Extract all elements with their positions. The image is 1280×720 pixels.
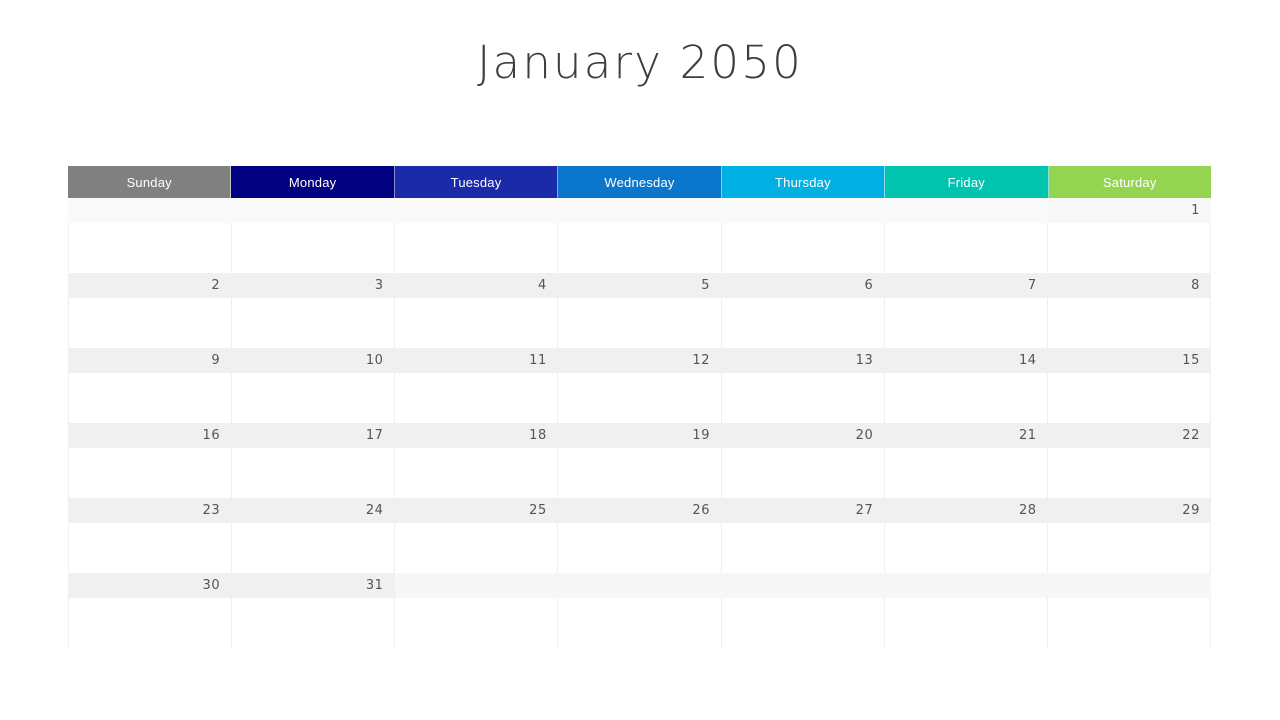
weekday-header-monday-label: Monday [289, 175, 336, 190]
calendar-week-row: 1 [68, 198, 1211, 273]
calendar-day-cell[interactable] [1048, 373, 1211, 423]
calendar-day-number[interactable]: 7 [884, 273, 1047, 298]
calendar-day-number[interactable]: 12 [558, 348, 721, 373]
calendar-day-number[interactable]: 23 [68, 498, 231, 523]
calendar-day-number-empty [395, 198, 558, 223]
calendar-grid: Sunday Monday Tuesday Wednesday Thursday… [68, 166, 1211, 648]
calendar-week-row: 23242526272829 [68, 498, 1211, 573]
calendar-day-number-empty [68, 198, 231, 223]
calendar-weekday-header-row: Sunday Monday Tuesday Wednesday Thursday… [68, 166, 1211, 198]
calendar-date-number-band: 2345678 [68, 273, 1211, 298]
calendar-day-cell[interactable] [232, 598, 395, 648]
calendar-day-number-empty [558, 198, 721, 223]
weekday-header-tuesday: Tuesday [395, 166, 558, 198]
calendar-day-cell[interactable] [232, 448, 395, 498]
calendar-week-body [68, 523, 1211, 573]
calendar-day-number[interactable]: 10 [231, 348, 394, 373]
calendar-day-cell-empty [722, 223, 885, 273]
calendar-day-cell[interactable] [1048, 223, 1211, 273]
calendar-day-cell[interactable] [68, 373, 232, 423]
calendar-day-number-empty [1048, 573, 1211, 598]
calendar-day-number[interactable]: 13 [721, 348, 884, 373]
calendar-day-number[interactable]: 22 [1048, 423, 1211, 448]
calendar-day-cell[interactable] [232, 373, 395, 423]
calendar-week-body [68, 298, 1211, 348]
calendar-day-number[interactable]: 21 [884, 423, 1047, 448]
calendar-day-number-empty [558, 573, 721, 598]
calendar-day-cell[interactable] [722, 373, 885, 423]
calendar-day-cell[interactable] [1048, 448, 1211, 498]
calendar-day-cell[interactable] [1048, 298, 1211, 348]
calendar-day-cell[interactable] [395, 298, 558, 348]
calendar-date-number-band: 3031 [68, 573, 1211, 598]
weekday-header-friday: Friday [885, 166, 1048, 198]
calendar-week-body [68, 448, 1211, 498]
weekday-header-saturday: Saturday [1049, 166, 1211, 198]
calendar-day-cell[interactable] [395, 448, 558, 498]
calendar-day-cell[interactable] [68, 523, 232, 573]
calendar-day-cell-empty [232, 223, 395, 273]
weekday-header-tuesday-label: Tuesday [451, 175, 502, 190]
calendar-day-number-empty [884, 198, 1047, 223]
calendar-day-number[interactable]: 24 [231, 498, 394, 523]
calendar-date-number-band: 9101112131415 [68, 348, 1211, 373]
calendar-day-cell-empty [1048, 598, 1211, 648]
calendar-day-number[interactable]: 31 [231, 573, 394, 598]
calendar-day-cell[interactable] [558, 523, 721, 573]
weekday-header-sunday-label: Sunday [127, 175, 172, 190]
calendar-day-cell[interactable] [68, 298, 232, 348]
calendar-day-cell[interactable] [395, 373, 558, 423]
calendar-day-number[interactable]: 27 [721, 498, 884, 523]
calendar-day-cell[interactable] [722, 448, 885, 498]
calendar-day-cell[interactable] [1048, 523, 1211, 573]
calendar-day-number[interactable]: 16 [68, 423, 231, 448]
calendar-day-cell-empty [395, 223, 558, 273]
calendar-day-cell[interactable] [885, 448, 1048, 498]
calendar-day-number[interactable]: 3 [231, 273, 394, 298]
calendar-week-row: 3031 [68, 573, 1211, 648]
weekday-header-saturday-label: Saturday [1103, 175, 1157, 190]
weekday-header-wednesday-label: Wednesday [604, 175, 674, 190]
calendar-day-number[interactable]: 4 [395, 273, 558, 298]
weekday-header-sunday: Sunday [68, 166, 231, 198]
calendar-week-row: 16171819202122 [68, 423, 1211, 498]
calendar-day-number-empty [395, 573, 558, 598]
calendar-weeks: 1234567891011121314151617181920212223242… [68, 198, 1211, 648]
calendar-day-cell-empty [68, 223, 232, 273]
calendar-day-cell[interactable] [395, 523, 558, 573]
calendar-day-number[interactable]: 18 [395, 423, 558, 448]
calendar-day-number[interactable]: 2 [68, 273, 231, 298]
calendar-day-cell[interactable] [885, 523, 1048, 573]
calendar-day-cell[interactable] [232, 523, 395, 573]
calendar-day-cell-empty [722, 598, 885, 648]
calendar-day-number-empty [721, 573, 884, 598]
calendar-day-cell[interactable] [558, 298, 721, 348]
calendar-date-number-band: 16171819202122 [68, 423, 1211, 448]
calendar-day-cell[interactable] [885, 373, 1048, 423]
weekday-header-thursday-label: Thursday [775, 175, 831, 190]
calendar-day-number[interactable]: 11 [395, 348, 558, 373]
calendar-date-number-band: 1 [68, 198, 1211, 223]
calendar-day-number[interactable]: 6 [721, 273, 884, 298]
calendar-day-number[interactable]: 26 [558, 498, 721, 523]
page-title: January 2050 [0, 40, 1280, 85]
calendar-day-number-empty [721, 198, 884, 223]
calendar-day-number[interactable]: 9 [68, 348, 231, 373]
calendar-day-cell[interactable] [885, 298, 1048, 348]
calendar-week-row: 2345678 [68, 273, 1211, 348]
calendar-day-number[interactable]: 8 [1048, 273, 1211, 298]
calendar-day-number[interactable]: 25 [395, 498, 558, 523]
calendar-day-number-empty [884, 573, 1047, 598]
calendar-week-body [68, 223, 1211, 273]
calendar-day-cell[interactable] [68, 448, 232, 498]
calendar-week-body [68, 373, 1211, 423]
calendar-day-cell[interactable] [558, 448, 721, 498]
calendar-day-number[interactable]: 19 [558, 423, 721, 448]
calendar-day-cell-empty [558, 223, 721, 273]
calendar-day-number-empty [231, 198, 394, 223]
calendar-day-cell-empty [885, 223, 1048, 273]
calendar-day-cell-empty [885, 598, 1048, 648]
weekday-header-monday: Monday [231, 166, 394, 198]
calendar-day-number[interactable]: 14 [884, 348, 1047, 373]
calendar-day-cell[interactable] [232, 298, 395, 348]
calendar-day-cell[interactable] [558, 373, 721, 423]
calendar-day-number[interactable]: 1 [1048, 198, 1211, 223]
calendar-day-number[interactable]: 28 [884, 498, 1047, 523]
calendar-day-number[interactable]: 5 [558, 273, 721, 298]
calendar-day-number[interactable]: 20 [721, 423, 884, 448]
calendar-day-number[interactable]: 17 [231, 423, 394, 448]
calendar-day-cell[interactable] [722, 523, 885, 573]
weekday-header-friday-label: Friday [948, 175, 985, 190]
calendar-day-cell-empty [395, 598, 558, 648]
calendar-day-cell-empty [558, 598, 721, 648]
calendar-date-number-band: 23242526272829 [68, 498, 1211, 523]
calendar-day-cell[interactable] [68, 598, 232, 648]
calendar-week-row: 9101112131415 [68, 348, 1211, 423]
calendar-day-cell[interactable] [722, 298, 885, 348]
weekday-header-thursday: Thursday [722, 166, 885, 198]
calendar-day-number[interactable]: 29 [1048, 498, 1211, 523]
weekday-header-wednesday: Wednesday [558, 166, 721, 198]
calendar-day-number[interactable]: 15 [1048, 348, 1211, 373]
calendar-week-body [68, 598, 1211, 648]
calendar-day-number[interactable]: 30 [68, 573, 231, 598]
